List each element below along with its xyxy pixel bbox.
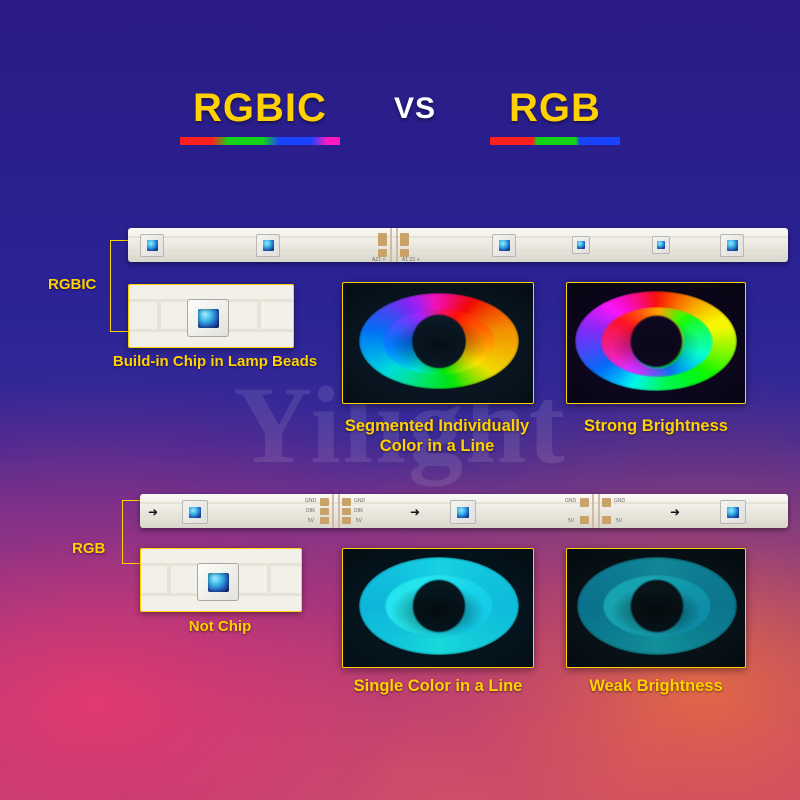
strip-label-gnd-3: GND xyxy=(565,498,576,505)
photo-weak-brightness xyxy=(566,548,746,668)
rgb-zoom-callout xyxy=(140,548,302,612)
product-infographic: Yilight RGBIC VS RGB RGBIC AZ1 + A1 Z1 + xyxy=(0,0,800,800)
led-chip xyxy=(256,234,280,257)
led-chip xyxy=(450,500,476,524)
led-chip xyxy=(492,234,516,257)
photo-single-color-caption-line1: Single Color in a Line xyxy=(338,676,538,696)
title-rgb: RGB xyxy=(490,88,620,145)
bracket-rgb xyxy=(122,500,141,564)
header: RGBIC VS RGB xyxy=(0,88,800,168)
title-vs: VS xyxy=(370,94,460,124)
direction-arrow-icon: ➜ xyxy=(670,506,680,518)
title-vs-text: VS xyxy=(370,94,460,124)
title-rgb-text: RGB xyxy=(490,88,620,128)
rgbic-lamp-bead xyxy=(187,299,229,337)
title-rgbic: RGBIC xyxy=(180,88,340,145)
direction-arrow-icon: ➜ xyxy=(148,506,158,518)
strip-marking-left: AZ1 + xyxy=(372,257,385,262)
photo-segmented-color xyxy=(342,282,534,404)
strip-label-5v-3: 5V xyxy=(568,518,574,525)
photo-segmented-caption-line1: Segmented Individually xyxy=(332,416,542,436)
rgbic-color-bar xyxy=(180,137,340,145)
rgb-color-bar xyxy=(490,137,620,145)
title-rgbic-text: RGBIC xyxy=(180,88,340,128)
rgbic-zoom-callout xyxy=(128,284,294,348)
strip-label-gnd-4: GND xyxy=(614,498,625,505)
strip-label-din-1: DIN xyxy=(306,508,315,515)
photo-single-color xyxy=(342,548,534,668)
photo-segmented-caption: Segmented Individually Color in a Line xyxy=(332,416,542,456)
section-label-rgbic: RGBIC xyxy=(48,276,96,293)
rgb-callout-caption: Not Chip xyxy=(140,618,300,637)
photo-single-color-caption: Single Color in a Line xyxy=(338,676,538,696)
section-label-rgb: RGB xyxy=(72,540,105,557)
led-chip xyxy=(572,236,590,254)
strip-label-5v-2: 5V xyxy=(356,518,362,525)
photo-strong-brightness-caption-line1: Strong Brightness xyxy=(566,416,746,436)
strip-label-gnd-2: GND xyxy=(354,498,365,505)
photo-strong-brightness-caption: Strong Brightness xyxy=(566,416,746,436)
strip-label-din-2: DIN xyxy=(354,508,363,515)
direction-arrow-icon: ➜ xyxy=(410,506,420,518)
photo-weak-brightness-caption-line1: Weak Brightness xyxy=(566,676,746,696)
rgb-led-strip: ➜ GND GND DIN DIN 5V 5V ➜ GND GND 5V 5V … xyxy=(140,494,788,528)
led-chip xyxy=(182,500,208,524)
photo-strong-brightness xyxy=(566,282,746,404)
rgb-lamp-bead xyxy=(197,563,239,601)
led-chip xyxy=(720,234,744,257)
strip-label-gnd-1: GND xyxy=(305,498,316,505)
led-chip xyxy=(140,234,164,257)
photo-weak-brightness-caption: Weak Brightness xyxy=(566,676,746,696)
led-chip xyxy=(652,236,670,254)
rgbic-led-strip: AZ1 + A1 Z1 + xyxy=(128,228,788,262)
led-chip xyxy=(720,500,746,524)
rgbic-callout-caption: Build-in Chip in Lamp Beads xyxy=(100,353,330,372)
strip-marking-right: A1 Z1 + xyxy=(402,257,420,262)
strip-label-5v-4: 5V xyxy=(616,518,622,525)
strip-label-5v-1: 5V xyxy=(308,518,314,525)
photo-segmented-caption-line2: Color in a Line xyxy=(332,436,542,456)
bracket-rgbic xyxy=(110,240,129,332)
